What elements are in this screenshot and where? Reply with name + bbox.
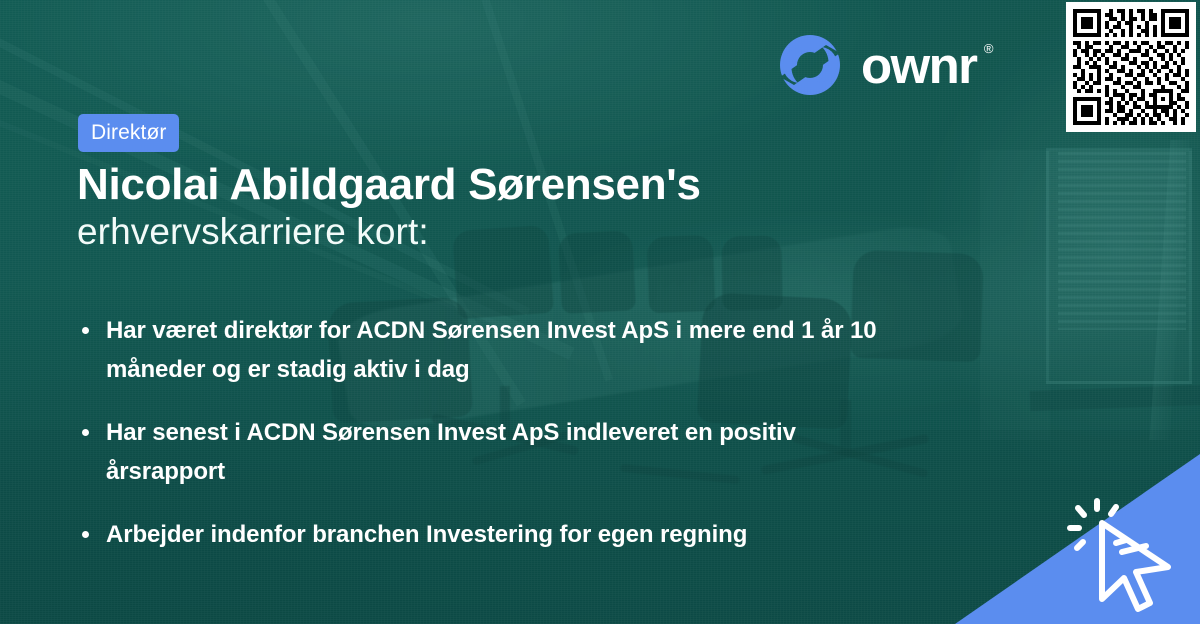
page-title: Nicolai Abildgaard Sørensen's xyxy=(77,160,701,209)
ownr-wordmark: ownr® xyxy=(861,40,976,91)
role-badge: Direktør xyxy=(78,114,179,152)
click-cursor-icon xyxy=(1064,496,1184,614)
list-item: Arbejder indenfor branchen Investering f… xyxy=(78,516,908,555)
bullet-dot-icon xyxy=(82,429,89,436)
registered-trademark-icon: ® xyxy=(984,42,994,55)
bullet-dot-icon xyxy=(82,531,89,538)
list-item-text: Har været direktør for ACDN Sørensen Inv… xyxy=(106,317,877,383)
ownr-circular-swirl-logo-icon xyxy=(778,33,842,97)
ownr-wordmark-text: ownr xyxy=(861,37,976,94)
page-subtitle: erhvervskarriere kort: xyxy=(77,211,429,254)
career-card: Direktør Nicolai Abildgaard Sørensen's e… xyxy=(0,0,1200,624)
list-item-text: Har senest i ACDN Sørensen Invest ApS in… xyxy=(106,419,796,485)
ownr-logo[interactable]: ownr® xyxy=(778,33,976,97)
qr-code[interactable] xyxy=(1066,2,1196,132)
list-item-text: Arbejder indenfor branchen Investering f… xyxy=(106,521,747,548)
qr-code-image xyxy=(1073,9,1189,125)
list-item: Har senest i ACDN Sørensen Invest ApS in… xyxy=(78,414,908,492)
bullet-dot-icon xyxy=(82,327,89,334)
list-item: Har været direktør for ACDN Sørensen Inv… xyxy=(78,312,908,390)
career-highlights-list: Har været direktør for ACDN Sørensen Inv… xyxy=(78,312,908,554)
